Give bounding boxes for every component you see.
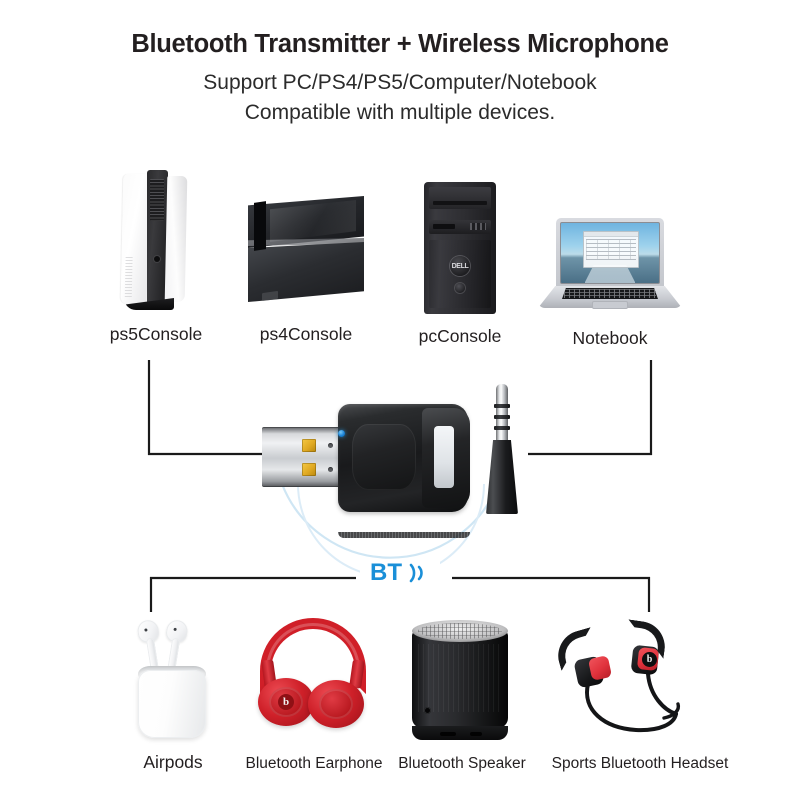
bluetooth-speaker-icon	[406, 618, 516, 740]
dongle-strap-loop	[422, 408, 470, 508]
dongle-textured-edge	[338, 532, 470, 538]
power-button-icon	[455, 283, 465, 293]
header: Bluetooth Transmitter + Wireless Microph…	[0, 30, 800, 126]
bluetooth-usb-dongle	[246, 380, 554, 540]
device-label-ps5: ps5Console	[78, 326, 234, 344]
device-label-ps4: ps4Console	[228, 326, 384, 344]
device-label-airpods: Airpods	[95, 754, 251, 772]
blue-led-icon	[338, 430, 345, 437]
bluetooth-waves-icon	[404, 560, 430, 586]
subtitle-line-2: Compatible with multiple devices.	[0, 99, 800, 127]
product-infographic: Bluetooth Transmitter + Wireless Microph…	[0, 0, 800, 800]
page-title: Bluetooth Transmitter + Wireless Microph…	[0, 30, 800, 58]
notebook-laptop-icon	[538, 218, 682, 314]
ps4-console-icon	[248, 196, 364, 308]
device-label-earphone: Bluetooth Earphone	[236, 756, 392, 772]
ps5-console-icon	[108, 168, 204, 310]
bt-label: BT	[370, 561, 402, 585]
subtitle-line-1: Support PC/PS4/PS5/Computer/Notebook	[0, 69, 800, 97]
sports-earbuds-icon: b	[552, 618, 702, 742]
device-label-speaker: Bluetooth Speaker	[392, 756, 532, 772]
dongle-face-panel	[352, 424, 416, 490]
bt-badge-row: BT	[140, 560, 660, 600]
device-label-notebook: Notebook	[532, 330, 688, 348]
pc-tower-icon: DELL	[424, 182, 496, 314]
device-label-sports-headset: Sports Bluetooth Headset	[530, 756, 750, 772]
dell-logo-icon: DELL	[450, 256, 470, 276]
airpods-icon	[118, 612, 228, 742]
device-label-pc: pcConsole	[382, 328, 538, 346]
bt-badge: BT	[360, 560, 440, 586]
usb-connector-icon	[262, 427, 346, 487]
3.5mm-jack-icon	[474, 384, 530, 514]
over-ear-headphones-icon: b	[252, 616, 376, 742]
